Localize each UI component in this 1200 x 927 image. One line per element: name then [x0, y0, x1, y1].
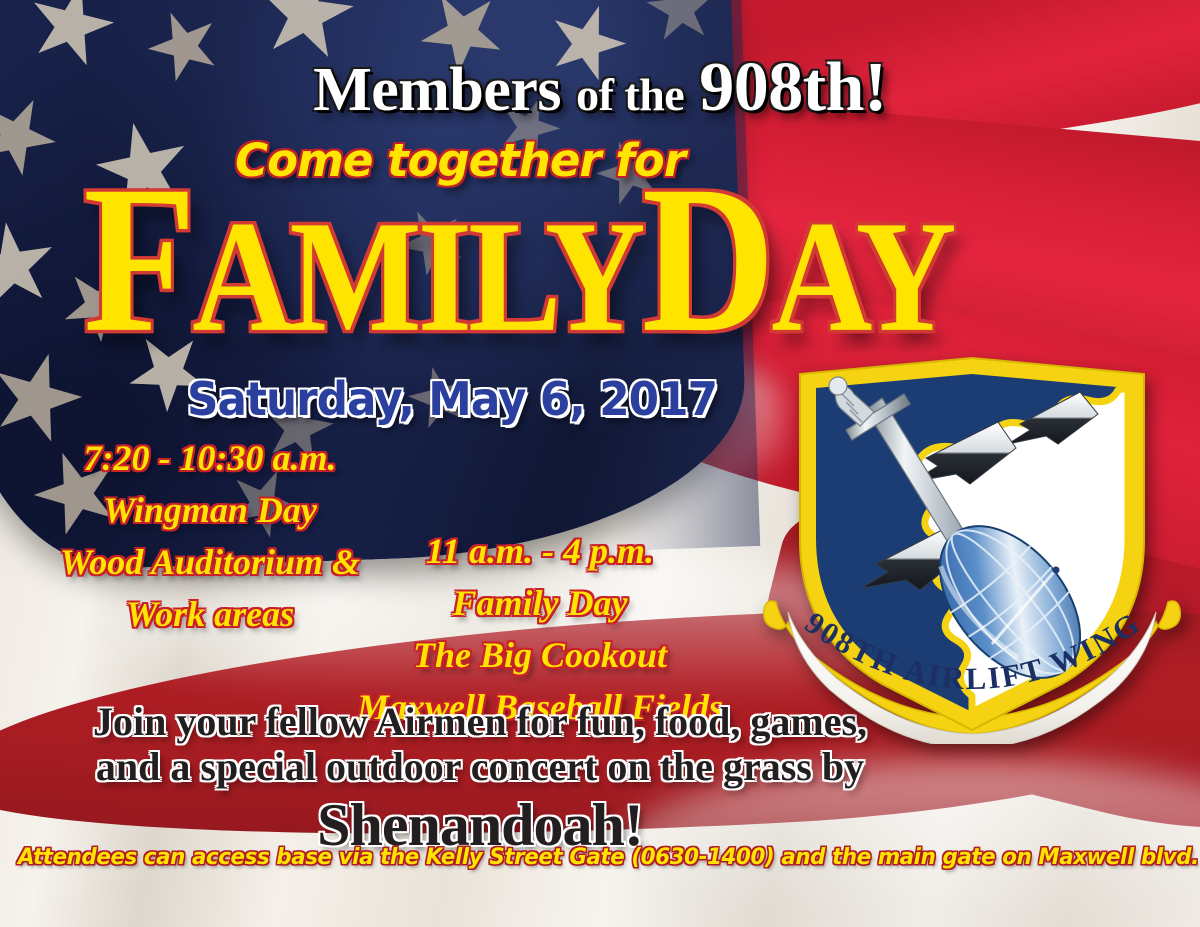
header-of-the: of the	[576, 69, 684, 120]
title-amily: AMILY	[192, 189, 641, 366]
schedule-left-event: Wingman Day	[30, 489, 390, 531]
title-f: F	[83, 143, 192, 377]
page-title: Members of the 908th!	[0, 48, 1200, 128]
title-d: D	[642, 143, 772, 377]
invitation-line-2: and a special outdoor concert on the gra…	[0, 745, 960, 790]
gate-access-note: Attendees can access base via the Kelly …	[18, 845, 1182, 870]
air-force-wing-shield-emblem: 908TH AIRLIFT WING	[758, 344, 1186, 744]
schedule-right-time: 11 a.m. - 4 p.m.	[330, 530, 750, 572]
header-908th: 908th!	[699, 49, 887, 126]
title-ay: AY	[771, 189, 952, 366]
header-members: Members	[313, 56, 561, 124]
schedule-right-activity: The Big Cookout	[330, 634, 750, 676]
schedule-right-event: Family Day	[330, 582, 750, 624]
schedule-left-time: 7:20 - 10:30 a.m.	[30, 437, 390, 479]
event-title: FAMILYDAY	[0, 160, 1118, 360]
family-day-poster: Members of the 908th! Come together for …	[0, 0, 1200, 927]
